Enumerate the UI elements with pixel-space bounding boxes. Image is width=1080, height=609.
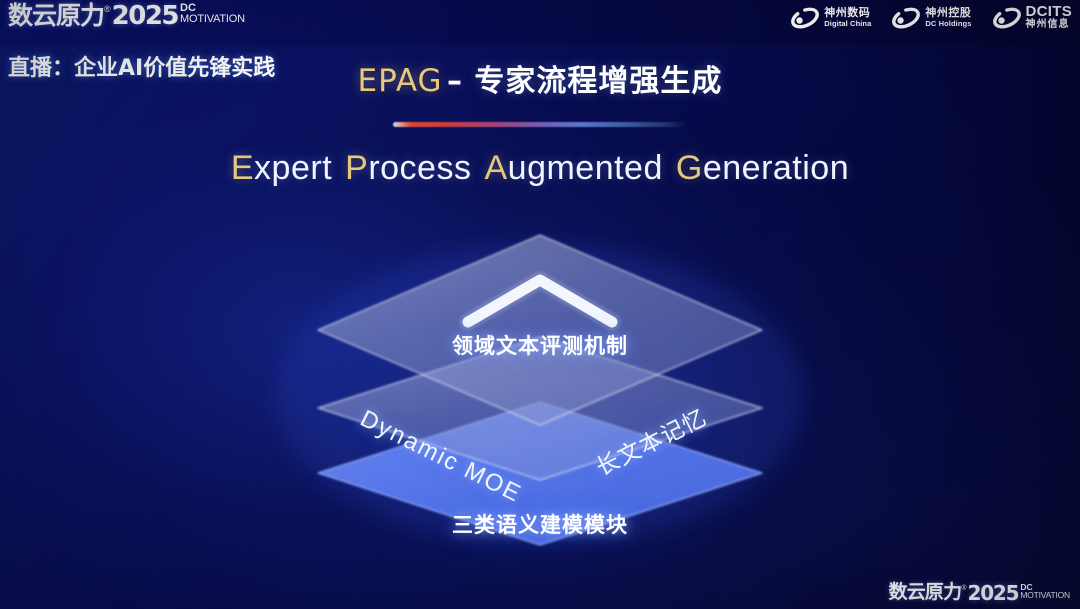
subtitle-word-generation: Generation: [676, 149, 849, 187]
brand-logo-watermark: 数云原力 ® 2025 DC MOTIVATION: [889, 583, 1071, 603]
chevron-up-icon: [468, 280, 612, 322]
brand-dc-motivation: DC MOTIVATION: [180, 3, 245, 25]
partner-label: 神州控股 DC Holdings: [925, 7, 971, 28]
brand-dc-text: DC: [180, 3, 245, 13]
stack-ambient-glow: [275, 245, 805, 545]
partner-logo-dc-holdings: 神州控股 DC Holdings: [891, 5, 971, 31]
headline-acronym: EPAG: [358, 63, 443, 99]
subtitle-word-augmented: Augmented: [484, 149, 662, 187]
swirl-logo-icon: [992, 5, 1022, 31]
swirl-logo-icon: [891, 5, 921, 31]
brand-logo-primary: 数云原力 ® 2025 DC MOTIVATION: [8, 3, 245, 29]
partner-logo-group: 神州数码 Digital China 神州控股 DC Holdings: [790, 4, 1072, 31]
partner-name-en: DC Holdings: [925, 19, 971, 28]
live-stream-title: 直播：企业AI价值先锋实践: [8, 50, 275, 82]
layer-middle-shape: [318, 337, 762, 480]
headline-subtitle-cn: – 专家流程增强生成: [447, 64, 722, 99]
layer-bottom-label: 三类语义建模模块: [0, 509, 1080, 539]
partner-name-en: Digital China: [824, 19, 871, 28]
layer-middle-label-right: 长文本记忆: [589, 398, 712, 482]
partner-logo-digital-china: 神州数码 Digital China: [790, 5, 871, 31]
partner-label: 神州数码 Digital China: [824, 7, 871, 28]
partner-name-cn: 神州控股: [925, 7, 971, 19]
subtitle-expanded-acronym: ExpertProcessAugmentedGeneration: [0, 149, 1080, 188]
partner-name-cn: 神州数码: [824, 7, 871, 19]
slide-canvas: 数云原力 ® 2025 DC MOTIVATION 直播：企业AI价值先锋实践 …: [0, 0, 1080, 609]
title-divider: [393, 122, 688, 127]
partner-logo-dcits: DCITS 神州信息: [992, 4, 1073, 31]
swirl-logo-icon: [790, 5, 820, 31]
brand-motivation-text: MOTIVATION: [1020, 591, 1070, 600]
brand-year: 2025: [112, 3, 178, 29]
layer-middle-label-left: Dynamic MOE: [356, 405, 527, 509]
registered-mark: ®: [104, 5, 111, 14]
layer-bottom-shape: [318, 402, 762, 545]
partner-label: DCITS 神州信息: [1026, 4, 1073, 31]
subtitle-word-process: Process: [345, 149, 471, 187]
partner-name-cn: 神州信息: [1026, 19, 1073, 31]
layer-top-shape: [318, 235, 762, 425]
brand-dc-motivation: DC MOTIVATION: [1020, 583, 1070, 600]
brand-name-cn: 数云原力: [8, 3, 104, 28]
subtitle-word-expert: Expert: [231, 149, 332, 187]
brand-name-cn: 数云原力: [889, 583, 962, 602]
brand-motivation-text: MOTIVATION: [180, 13, 245, 25]
layer-top-label: 领域文本评测机制: [0, 330, 1080, 360]
brand-year: 2025: [967, 583, 1018, 603]
partner-name-en: DCITS: [1026, 4, 1073, 19]
registered-mark: ®: [961, 585, 966, 592]
